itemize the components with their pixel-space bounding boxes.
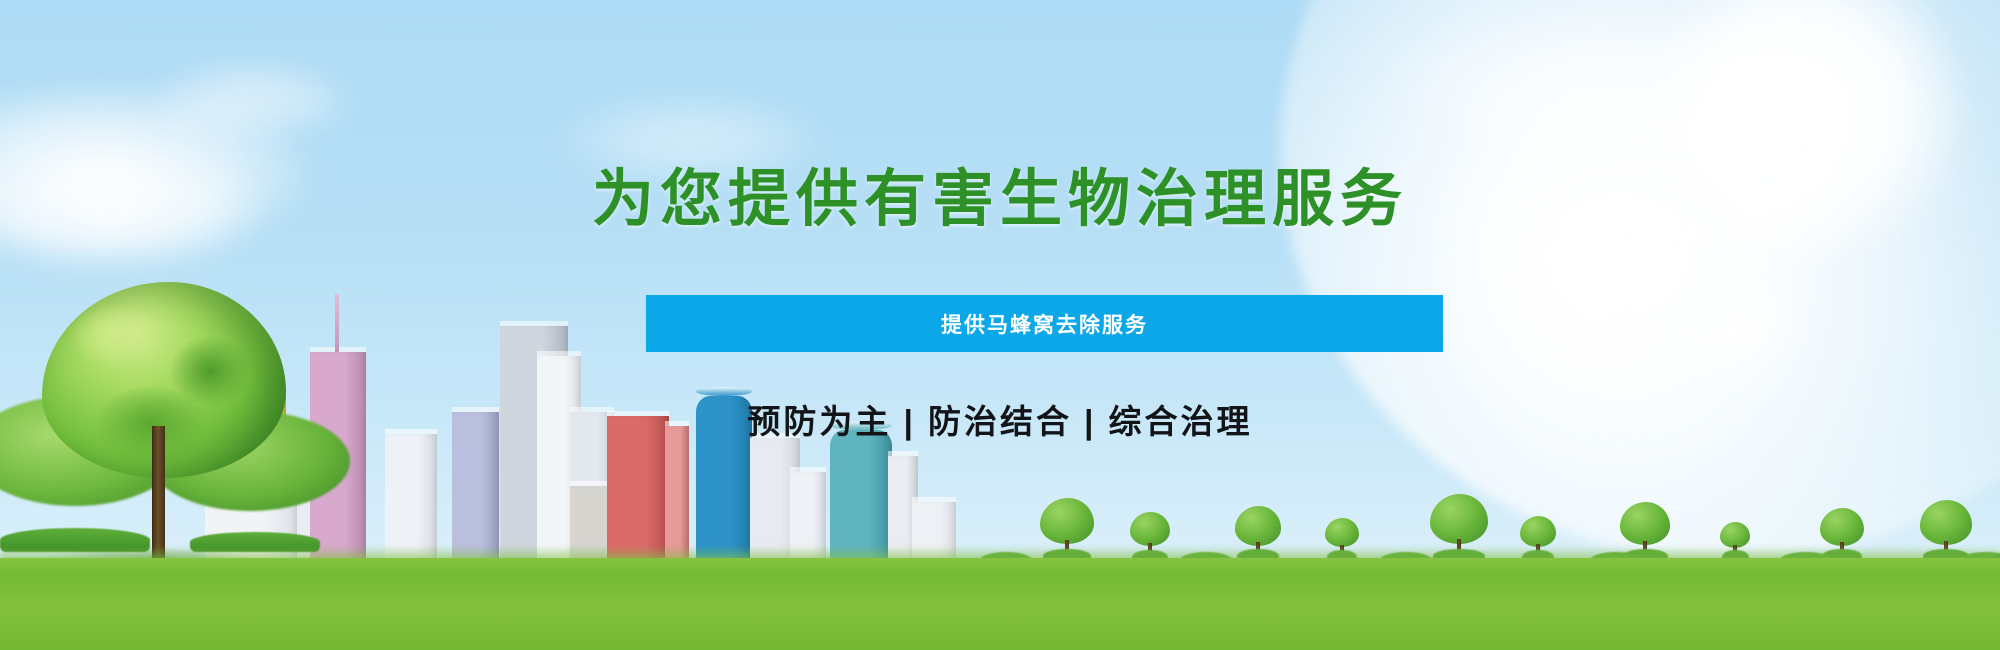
tree-canopy xyxy=(1920,500,1972,545)
tree-canopy xyxy=(1620,502,1670,545)
tree-trunk xyxy=(152,426,165,562)
tree-canopy xyxy=(1520,516,1556,547)
tree-canopy xyxy=(1720,522,1750,548)
tree-canopy xyxy=(1430,494,1488,544)
tagline: 预防为主 | 防治结合 | 综合治理 xyxy=(0,395,2000,443)
building-roof xyxy=(537,351,581,356)
page-title: 为您提供有害生物治理服务 xyxy=(0,148,2000,238)
grass-field xyxy=(0,558,2000,650)
service-ribbon-label: 提供马蜂窝去除服务 xyxy=(941,309,1148,339)
tree-canopy-detail xyxy=(70,304,156,366)
tree-canopy xyxy=(1235,506,1281,546)
cloud-shape xyxy=(150,60,350,140)
tree-canopy xyxy=(1325,518,1359,547)
tree-canopy xyxy=(1820,508,1864,546)
building-roof xyxy=(500,321,568,326)
hero-banner: 为您提供有害生物治理服务 提供马蜂窝去除服务 预防为主 | 防治结合 | 综合治… xyxy=(0,0,2000,650)
service-ribbon[interactable]: 提供马蜂窝去除服务 xyxy=(646,295,1443,352)
tree-canopy xyxy=(1040,498,1094,544)
tree-canopy xyxy=(1130,512,1170,546)
